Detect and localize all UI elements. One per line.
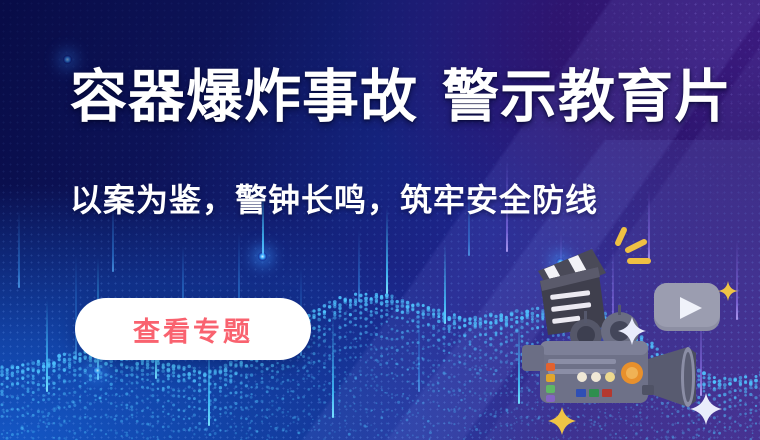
light-beam [700,300,702,396]
movie-camera-icon [522,305,696,407]
light-beam [648,190,650,262]
beam-glow-dot [93,366,102,375]
beam-glow-dot [608,330,617,339]
light-beam [332,316,334,418]
background-dot-texture-top-right [430,0,760,300]
page-title: 容器爆炸事故警示教育片 [70,68,732,128]
page-subtitle: 以案为鉴，警钟长鸣，筑牢安全防线 [70,175,598,221]
burst-lines-icon [618,230,648,261]
play-button-icon [654,283,720,331]
light-beam [444,244,446,324]
beam-glow-dot [258,252,267,261]
light-beam [736,240,738,320]
light-beam [418,300,420,392]
light-beam [560,232,562,310]
beam-glow-dot [556,258,565,267]
title-part-1: 容器爆炸事故 [70,65,418,129]
clapperboard-icon [538,249,606,335]
light-beam [358,230,360,302]
sparkle-star-yellow-icon [548,281,738,435]
beam-glow-dot [63,55,72,64]
title-part-2: 警示教育片 [442,65,732,129]
view-topic-button[interactable]: 查看专题 [75,298,311,360]
light-beam [46,300,48,392]
sparkle-star-white-icon [618,317,722,425]
light-beam [75,255,77,360]
light-beam [18,210,20,288]
light-beam [518,320,520,404]
light-beam [612,248,614,336]
promo-banner: 容器爆炸事故警示教育片 以案为鉴，警钟长鸣，筑牢安全防线 查看专题 [0,0,760,440]
media-illustration [520,225,760,440]
